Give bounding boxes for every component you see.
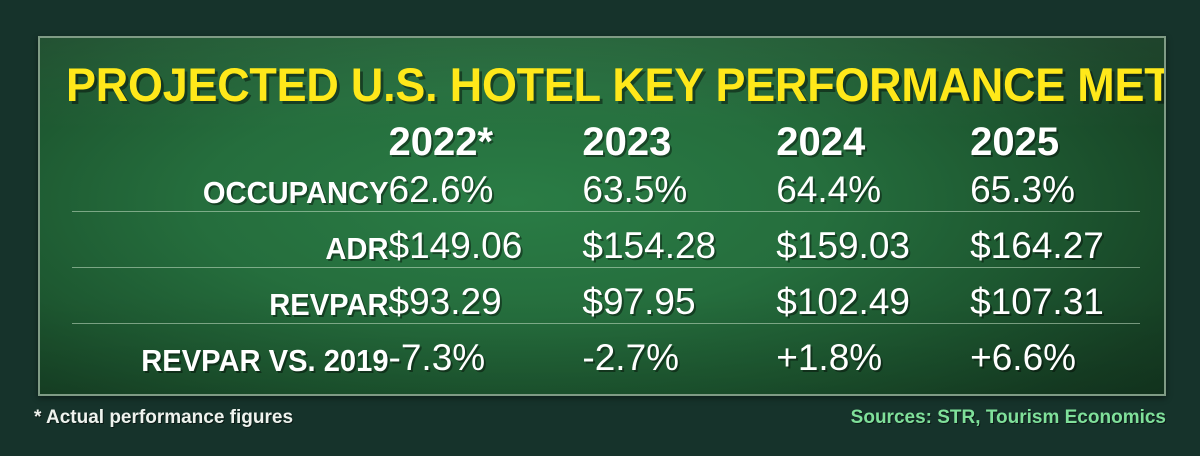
footer: * Actual performance figures Sources: ST… bbox=[0, 404, 1200, 450]
table-row: REVPAR $93.29 $97.95 $102.49 $107.31 bbox=[40, 268, 1164, 322]
row-label-adr: ADR bbox=[61, 212, 389, 266]
cell-revpar-vs-2019-2023: -2.7% bbox=[582, 324, 776, 378]
cell-revpar-vs-2019-2024: +1.8% bbox=[776, 324, 970, 378]
cell-revpar-vs-2019-2025: +6.6% bbox=[970, 324, 1164, 378]
page-title: PROJECTED U.S. HOTEL KEY PERFORMANCE MET… bbox=[66, 60, 1094, 110]
metrics-panel: PROJECTED U.S. HOTEL KEY PERFORMANCE MET… bbox=[38, 36, 1166, 396]
infographic-root: PROJECTED U.S. HOTEL KEY PERFORMANCE MET… bbox=[0, 0, 1200, 456]
cell-adr-2023: $154.28 bbox=[582, 212, 776, 266]
column-header-2023: 2023 bbox=[582, 120, 776, 164]
cell-occupancy-2023: 63.5% bbox=[582, 164, 776, 210]
row-label-occupancy: OCCUPANCY bbox=[61, 164, 389, 210]
column-header-2022: 2022* bbox=[389, 120, 583, 164]
table-row: ADR $149.06 $154.28 $159.03 $164.27 bbox=[40, 212, 1164, 266]
cell-adr-2025: $164.27 bbox=[970, 212, 1164, 266]
cell-occupancy-2022: 62.6% bbox=[389, 164, 583, 210]
column-header-2024: 2024 bbox=[776, 120, 970, 164]
cell-revpar-vs-2019-2022: -7.3% bbox=[389, 324, 583, 378]
header-corner-spacer bbox=[40, 120, 389, 164]
footnote-actual-performance: * Actual performance figures bbox=[34, 406, 293, 430]
cell-occupancy-2025: 65.3% bbox=[970, 164, 1164, 210]
metrics-table: 2022* 2023 2024 2025 OCCUPANCY 62.6% 63.… bbox=[40, 120, 1164, 378]
table-row: OCCUPANCY 62.6% 63.5% 64.4% 65.3% bbox=[40, 164, 1164, 210]
cell-adr-2022: $149.06 bbox=[389, 212, 583, 266]
cell-revpar-2025: $107.31 bbox=[970, 268, 1164, 322]
cell-revpar-2022: $93.29 bbox=[389, 268, 583, 322]
row-label-revpar-vs-2019: REVPAR VS. 2019 bbox=[61, 324, 389, 378]
cell-revpar-2024: $102.49 bbox=[776, 268, 970, 322]
cell-adr-2024: $159.03 bbox=[776, 212, 970, 266]
table-header-row: 2022* 2023 2024 2025 bbox=[40, 120, 1164, 164]
table-row: REVPAR VS. 2019 -7.3% -2.7% +1.8% +6.6% bbox=[40, 324, 1164, 378]
column-header-2025: 2025 bbox=[970, 120, 1164, 164]
cell-occupancy-2024: 64.4% bbox=[776, 164, 970, 210]
row-label-revpar: REVPAR bbox=[61, 268, 389, 322]
sources-credit: Sources: STR, Tourism Economics bbox=[851, 406, 1166, 430]
cell-revpar-2023: $97.95 bbox=[582, 268, 776, 322]
